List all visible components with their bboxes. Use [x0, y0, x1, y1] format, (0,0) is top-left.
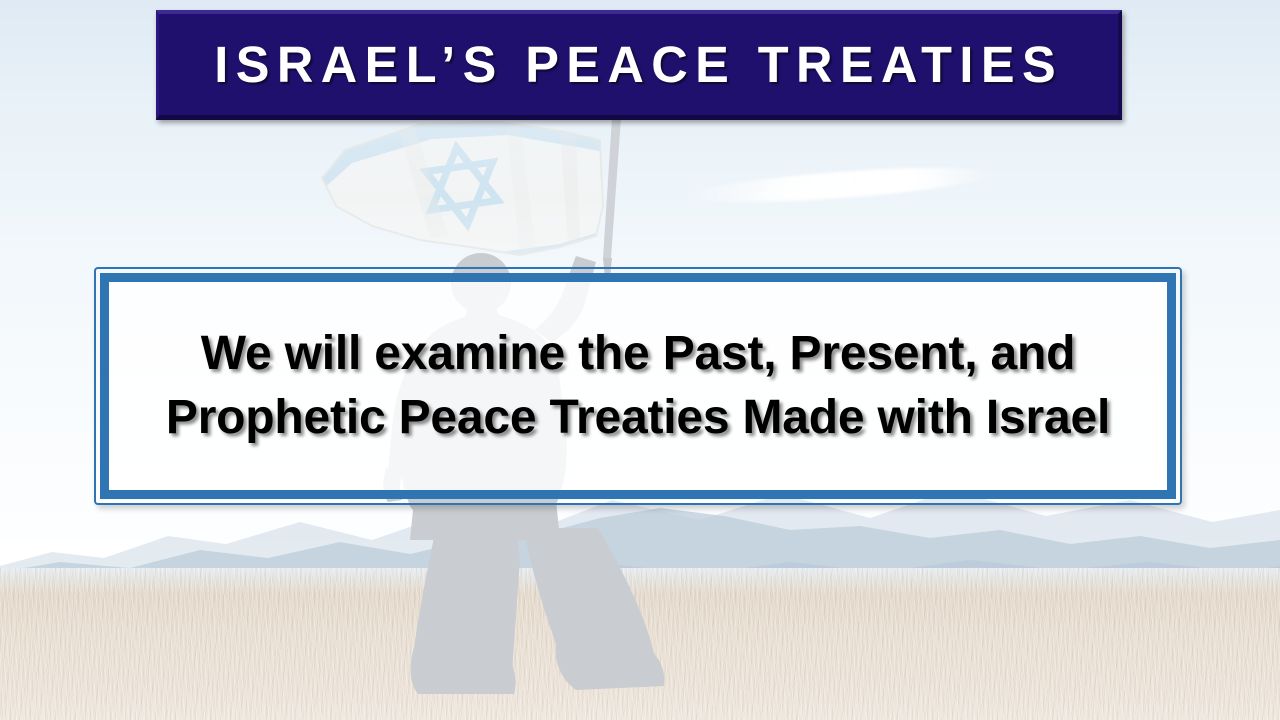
slide-canvas: ISRAEL’S PEACE TREATIES We will examine … — [0, 0, 1280, 720]
content-callout-inner: We will examine the Past, Present, and P… — [100, 273, 1176, 499]
flag-pole-icon — [603, 118, 621, 278]
content-callout-box: We will examine the Past, Present, and P… — [94, 267, 1182, 505]
slide-title-bar: ISRAEL’S PEACE TREATIES — [156, 10, 1122, 120]
israel-flag-icon — [300, 110, 620, 270]
content-body-text: We will examine the Past, Present, and P… — [109, 322, 1167, 450]
page-title: ISRAEL’S PEACE TREATIES — [214, 39, 1063, 90]
